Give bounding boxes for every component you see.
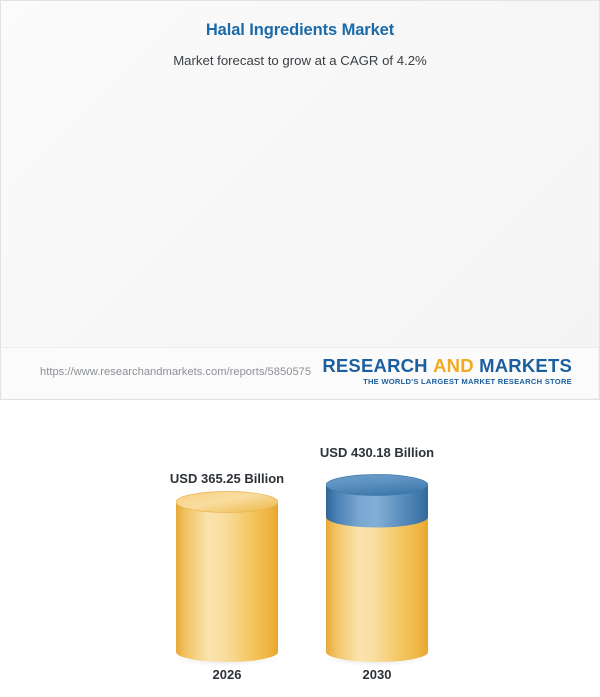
logo-text-markets: MARKETS xyxy=(479,355,572,376)
logo-wordmark: RESEARCH AND MARKETS xyxy=(322,356,572,375)
footer-bar: https://www.researchandmarkets.com/repor… xyxy=(2,347,598,398)
logo-text-and: AND xyxy=(433,355,474,376)
research-and-markets-logo[interactable]: RESEARCH AND MARKETS THE WORLD'S LARGEST… xyxy=(322,356,572,386)
logo-text-research: RESEARCH xyxy=(322,355,427,376)
bar-cylinder-2026[interactable] xyxy=(176,349,278,697)
bar-cylinder-2030[interactable] xyxy=(326,349,428,697)
bar-category-label-2026: 2026 xyxy=(213,667,242,682)
report-url-link[interactable]: https://www.researchandmarkets.com/repor… xyxy=(40,366,311,378)
plot-area: USD 365.25 Billion xyxy=(1,1,600,349)
bar-category-label-2030: 2030 xyxy=(363,667,392,682)
logo-tagline: THE WORLD'S LARGEST MARKET RESEARCH STOR… xyxy=(322,377,572,386)
chart-card: Halal Ingredients Market Market forecast… xyxy=(0,0,600,400)
